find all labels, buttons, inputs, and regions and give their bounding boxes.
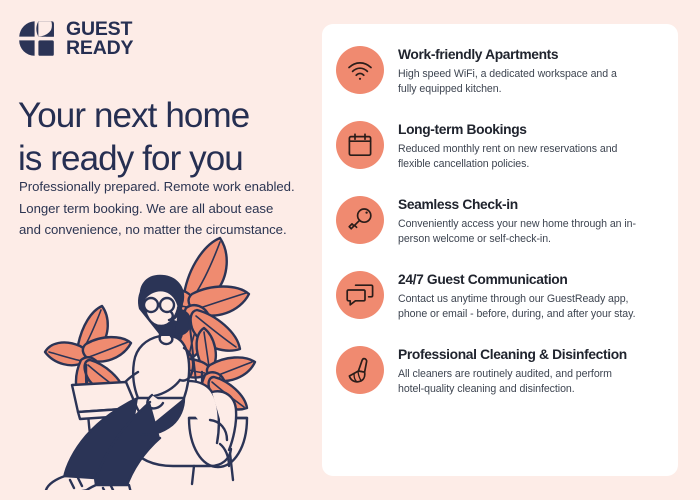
feature-title: Seamless Check-in xyxy=(398,196,638,213)
feature-description: High speed WiFi, a dedicated workspace a… xyxy=(398,67,638,97)
feature-description: Reduced monthly rent on new reservations… xyxy=(398,142,638,172)
list-item[interactable]: Seamless Check-in Conveniently access yo… xyxy=(336,194,662,258)
feature-title: Professional Cleaning & Disinfection xyxy=(398,346,638,363)
feature-text: Work-friendly Apartments High speed WiFi… xyxy=(398,44,638,97)
page-title: Your next home is ready for you xyxy=(18,95,308,180)
feature-title: Long-term Bookings xyxy=(398,121,638,138)
feature-description: All cleaners are routinely audited, and … xyxy=(398,367,638,397)
left-column: GUEST READY Your next home is ready for … xyxy=(0,0,320,500)
feature-title: 24/7 Guest Communication xyxy=(398,271,638,288)
feature-text: Professional Cleaning & Disinfection All… xyxy=(398,344,638,397)
hero-illustration xyxy=(34,222,316,490)
key-icon xyxy=(336,196,384,244)
promo-page: GUEST READY Your next home is ready for … xyxy=(0,0,700,500)
feature-text: Long-term Bookings Reduced monthly rent … xyxy=(398,119,638,172)
calendar-icon xyxy=(336,121,384,169)
feature-description: Contact us anytime through our GuestRead… xyxy=(398,292,638,322)
right-column: Work-friendly Apartments High speed WiFi… xyxy=(320,0,700,500)
wifi-icon xyxy=(336,46,384,94)
list-item[interactable]: Long-term Bookings Reduced monthly rent … xyxy=(336,119,662,183)
list-item[interactable]: 24/7 Guest Communication Contact us anyt… xyxy=(336,269,662,333)
features-card: Work-friendly Apartments High speed WiFi… xyxy=(322,24,678,476)
feature-list: Work-friendly Apartments High speed WiFi… xyxy=(336,44,662,408)
feature-title: Work-friendly Apartments xyxy=(398,46,638,63)
feature-description: Conveniently access your new home throug… xyxy=(398,217,638,247)
broom-icon xyxy=(336,346,384,394)
list-item[interactable]: Work-friendly Apartments High speed WiFi… xyxy=(336,44,662,108)
brand-name: GUEST READY xyxy=(66,20,133,57)
chat-bubbles-icon xyxy=(336,271,384,319)
list-item[interactable]: Professional Cleaning & Disinfection All… xyxy=(336,344,662,408)
feature-text: 24/7 Guest Communication Contact us anyt… xyxy=(398,269,638,322)
brand-lockup: GUEST READY xyxy=(18,20,133,57)
feature-text: Seamless Check-in Conveniently access yo… xyxy=(398,194,638,247)
guestready-quadrant-logo-icon xyxy=(18,20,55,57)
